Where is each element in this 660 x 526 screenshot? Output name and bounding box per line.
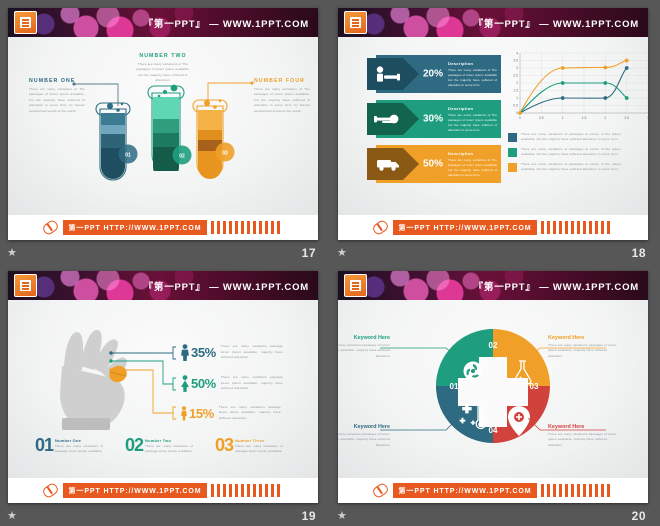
segment-number-01: 01 [450, 382, 459, 391]
block-number: 02 [125, 437, 143, 454]
block-text: There are many variations of passage lor… [55, 444, 103, 455]
callout-bottom-left: Keyword Here There are many variations p… [338, 424, 390, 448]
banner-title: 『第一PPT』 — WWW.1PPT.COM [474, 16, 639, 30]
arrow-head [367, 58, 419, 90]
svg-text:1.5: 1.5 [513, 89, 518, 93]
stat-text: There are many variations of The passage… [448, 113, 497, 134]
svg-text:1.5: 1.5 [582, 116, 587, 120]
banner-title: 『第一PPT』 — WWW.1PPT.COM [144, 16, 309, 30]
stat-row-1: 35% There are many variations passage lo… [180, 344, 283, 361]
stat-row-3: 15% There are many variations passage lo… [180, 405, 281, 421]
stat-heading: Description [448, 151, 497, 156]
stat-bar-3: 50% Description There are many variation… [376, 145, 501, 183]
chart-legend: There are many variations of passages of… [508, 132, 644, 172]
slide-canvas: 35% There are many variations passage lo… [8, 300, 318, 478]
stat-percent: 35% [191, 345, 216, 360]
slide-canvas: 20% Description There are many variation… [338, 37, 648, 215]
star-outline-icon[interactable]: ★ [7, 248, 18, 259]
slide-banner: 『第一PPT』 — WWW.1PPT.COM [8, 271, 318, 300]
number-block-2: 02 Number Two There are many variations … [125, 437, 193, 455]
stat-text: There are many variations passage lorem … [219, 405, 281, 421]
powerpoint-logo-icon [344, 274, 367, 297]
callout-bottom-right: Keyword Here There are many variations p… [548, 424, 620, 448]
powerpoint-logo-icon [14, 274, 37, 297]
slide-number: 18 [632, 246, 646, 260]
footer-stripes [541, 221, 613, 234]
legend-text: There are many variations of passages of… [521, 147, 621, 158]
stat-bar-1: 20% Description There are many variation… [376, 55, 501, 93]
person-child-icon [180, 406, 188, 421]
stat-text: There are many variations of The passage… [448, 68, 497, 89]
slide-20[interactable]: 『第一PPT』 — WWW.1PPT.COM [338, 271, 648, 503]
slide-cell-19[interactable]: 『第一PPT』 — WWW.1PPT.COM [0, 263, 330, 526]
svg-text:03: 03 [222, 151, 228, 157]
stat-percent: 50% [423, 159, 443, 170]
callout-title: Keyword Here [338, 335, 390, 341]
number-block-3: 03 Number Three There are many variation… [215, 437, 283, 455]
number-block-1: 01 Number One There are many variations … [35, 437, 103, 455]
slide-canvas: 02 03 04 01 [338, 300, 648, 478]
stat-percent: 30% [423, 114, 443, 125]
footer-stripes [211, 221, 283, 234]
legend-swatch [508, 133, 517, 142]
star-outline-icon[interactable]: ★ [337, 248, 348, 259]
slide-footer: 第一PPT HTTP://WWW.1PPT.COM [8, 478, 318, 503]
slide-cell-20[interactable]: 『第一PPT』 — WWW.1PPT.COM [330, 263, 660, 526]
star-outline-icon[interactable]: ★ [337, 511, 348, 522]
slide-banner: 『第一PPT』 — WWW.1PPT.COM [338, 271, 648, 300]
legend-item: There are many variations of passages of… [508, 162, 644, 173]
footer-url: 第一PPT HTTP://WWW.1PPT.COM [63, 220, 208, 235]
stat-row-2: 50% There are many variations passage lo… [180, 375, 283, 392]
stat-text: There are many variations passage lorem … [221, 344, 283, 360]
banner-title: 『第一PPT』 — WWW.1PPT.COM [144, 279, 309, 293]
footer-stripes [541, 484, 613, 497]
block-number: 01 [35, 437, 53, 454]
stat-bar-2: 30% Description There are many variation… [376, 100, 501, 138]
svg-text:2: 2 [516, 81, 518, 85]
svg-text:0: 0 [516, 111, 518, 115]
stat-desc: Description There are many variations of… [448, 106, 497, 134]
stat-desc: Description There are many variations of… [448, 61, 497, 89]
svg-text:1: 1 [516, 96, 518, 100]
svg-text:3.5: 3.5 [513, 59, 518, 63]
slide-banner: 『第一PPT』 — WWW.1PPT.COM [338, 8, 648, 37]
footer-stripes [211, 484, 283, 497]
stat-percent: 15% [189, 406, 214, 421]
slide-17[interactable]: 『第一PPT』 — WWW.1PPT.COM NUMBER ONE There … [8, 8, 318, 240]
callout-text: There are many variations passages of lo… [548, 343, 620, 359]
svg-text:01: 01 [125, 153, 131, 159]
stat-heading: Description [448, 61, 497, 66]
star-outline-icon[interactable]: ★ [7, 511, 18, 522]
capsule-icon [371, 482, 390, 500]
callout-title: Keyword Here [548, 424, 620, 430]
legend-swatch [508, 148, 517, 157]
segment-number-04: 04 [489, 426, 498, 435]
slide-footer: 第一PPT HTTP://WWW.1PPT.COM [338, 215, 648, 240]
test-tube-group: 01 [8, 37, 318, 215]
legend-item: There are many variations of passages of… [508, 147, 644, 158]
callout-top-right: Keyword Here There are many variations p… [548, 335, 620, 359]
slide-number: 19 [302, 509, 316, 523]
person-female-icon [180, 375, 190, 392]
block-text: There are many variations of passage lor… [235, 444, 283, 455]
arrow-head [367, 148, 419, 180]
stat-desc: Description There are many variations of… [448, 151, 497, 179]
stat-percent: 50% [191, 376, 216, 391]
callout-title: Keyword Here [548, 335, 620, 341]
capsule-icon [41, 219, 60, 237]
person-male-icon [180, 344, 190, 361]
callout-top-left: Keyword Here There are many variations p… [338, 335, 390, 359]
slide-thumbnail-grid: 『第一PPT』 — WWW.1PPT.COM NUMBER ONE There … [0, 0, 660, 526]
legend-swatch [508, 163, 517, 172]
footer-url: 第一PPT HTTP://WWW.1PPT.COM [393, 220, 538, 235]
svg-text:02: 02 [179, 154, 185, 160]
slide-cell-18[interactable]: 『第一PPT』 — WWW.1PPT.COM 20 [330, 0, 660, 263]
callout-text: There are many variations passages of lo… [338, 343, 390, 359]
svg-text:0.5: 0.5 [513, 104, 518, 108]
arrow-head [367, 103, 419, 135]
slide-footer: 第一PPT HTTP://WWW.1PPT.COM [338, 478, 648, 503]
callout-text: There are many variations passages of lo… [338, 432, 390, 448]
footer-url: 第一PPT HTTP://WWW.1PPT.COM [63, 483, 208, 498]
slide-banner: 『第一PPT』 — WWW.1PPT.COM [8, 8, 318, 37]
svg-text:3: 3 [647, 116, 648, 120]
pinwheel-diagram: 02 03 04 01 [338, 300, 648, 478]
stat-percent: 20% [423, 69, 443, 80]
block-title: Number Three [235, 438, 283, 443]
svg-text:0.5: 0.5 [539, 116, 544, 120]
svg-text:0: 0 [519, 116, 521, 120]
banner-title: 『第一PPT』 — WWW.1PPT.COM [474, 279, 639, 293]
svg-text:3: 3 [516, 66, 518, 70]
slide-19[interactable]: 『第一PPT』 — WWW.1PPT.COM [8, 271, 318, 503]
stat-text: There are many variations passage lorem … [221, 375, 283, 391]
slide-canvas: NUMBER ONE There are many variations of … [8, 37, 318, 215]
svg-text:2: 2 [604, 116, 606, 120]
legend-text: There are many variations of passages of… [521, 132, 621, 143]
svg-text:4: 4 [516, 51, 518, 55]
block-title: Number One [55, 438, 103, 443]
svg-text:2.5: 2.5 [624, 116, 629, 120]
slide-number: 17 [302, 246, 316, 260]
block-title: Number Two [145, 438, 193, 443]
segment-number-02: 02 [489, 341, 498, 350]
slide-footer: 第一PPT HTTP://WWW.1PPT.COM [8, 215, 318, 240]
powerpoint-logo-icon [14, 11, 37, 34]
legend-text: There are many variations of passages of… [521, 162, 621, 173]
segment-number-03: 03 [530, 382, 539, 391]
svg-text:1: 1 [562, 116, 564, 120]
callout-title: Keyword Here [338, 424, 390, 430]
powerpoint-logo-icon [344, 11, 367, 34]
block-number: 03 [215, 437, 233, 454]
capsule-icon [41, 482, 60, 500]
stat-text: There are many variations of The passage… [448, 158, 497, 179]
slide-number: 20 [632, 509, 646, 523]
capsule-icon [371, 219, 390, 237]
footer-url: 第一PPT HTTP://WWW.1PPT.COM [393, 483, 538, 498]
test-tube-03: 03 [193, 100, 235, 179]
stat-heading: Description [448, 106, 497, 111]
test-tube-01: 01 [96, 103, 138, 180]
line-chart: 00.51 1.522.5 33.54 00.51 1.522.5 3 [506, 49, 648, 127]
legend-item: There are many variations of passages of… [508, 132, 644, 143]
block-text: There are many variations of passage lor… [145, 444, 193, 455]
biohazard-icon [464, 362, 483, 381]
callout-text: There are many variations passages of lo… [548, 432, 620, 448]
test-tube-02: 02 [148, 85, 192, 171]
slide-cell-17[interactable]: 『第一PPT』 — WWW.1PPT.COM NUMBER ONE There … [0, 0, 330, 263]
slide-18[interactable]: 『第一PPT』 — WWW.1PPT.COM 20 [338, 8, 648, 240]
svg-text:2.5: 2.5 [513, 74, 518, 78]
